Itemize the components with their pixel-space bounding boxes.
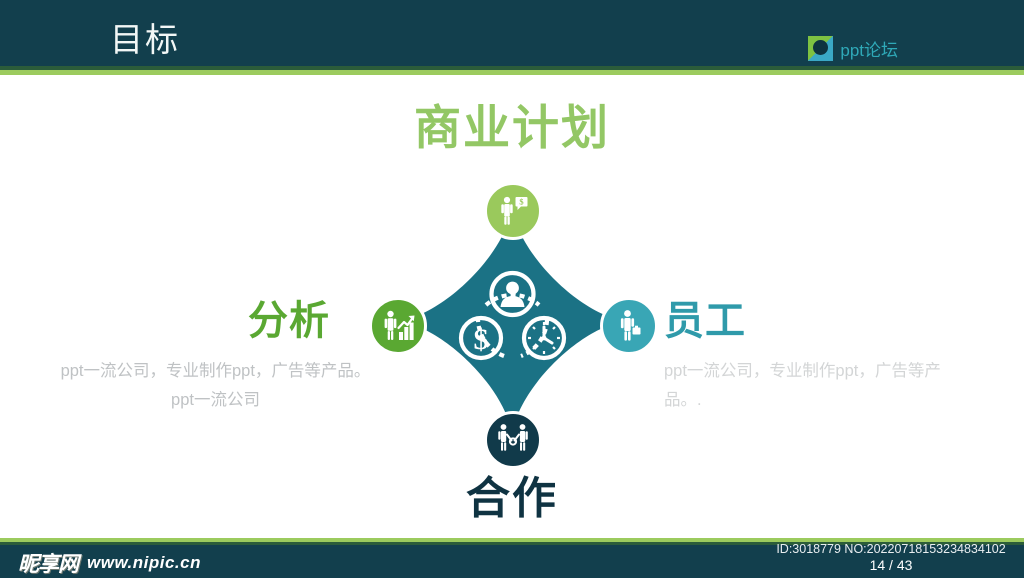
presenter-with-dollar-board-icon: $ [493,191,533,231]
node-label-right: 员工 [664,297,746,345]
brand-label: ppt论坛 [840,36,898,61]
node-label-bottom: 合作 [0,473,1024,525]
diagram-node-bottom[interactable] [484,411,542,469]
watermark-logo: 昵享网 [18,548,78,578]
page-indicator: 14 / 43 [766,557,1016,574]
diagram-node-right[interactable] [600,297,658,355]
magnifier-square-logo-icon [808,36,833,61]
watermark-url: www.nipic.cn [87,553,201,573]
diagram-node-top[interactable]: $ [484,182,542,240]
slide-header: 目标 ppt论坛 [0,0,1024,66]
brand-logo: ppt论坛 [808,36,898,61]
businessman-with-briefcase-icon [609,306,649,346]
people-money-time-cycle-icon: $ [455,265,570,380]
two-people-handshake-icon [492,419,534,461]
diagram-node-left[interactable] [369,297,427,355]
slide-body: 商业计划 $ [0,75,1024,538]
slide-meta: ID:3018779 NO:20220718153234834102 14 / … [766,541,1016,574]
node-label-top: 商业计划 [0,101,1024,155]
node-label-left: 分析 [248,297,330,345]
person-with-growth-chart-icon [378,306,418,346]
slide: 目标 ppt论坛 商业计划 [0,0,1024,578]
watermark: 昵享网 www.nipic.cn [18,548,201,578]
node-body-left: ppt一流公司，专业制作ppt，广告等产品。ppt一流公司 [58,357,373,415]
page-title: 目标 [110,22,180,58]
node-body-right: ppt一流公司，专业制作ppt，广告等产品。. [664,357,964,415]
meta-id-text: ID:3018779 NO:20220718153234834102 [766,541,1016,557]
svg-text:$: $ [474,323,489,356]
slide-footer: 昵享网 www.nipic.cn ID:3018779 NO:202207181… [0,545,1024,578]
